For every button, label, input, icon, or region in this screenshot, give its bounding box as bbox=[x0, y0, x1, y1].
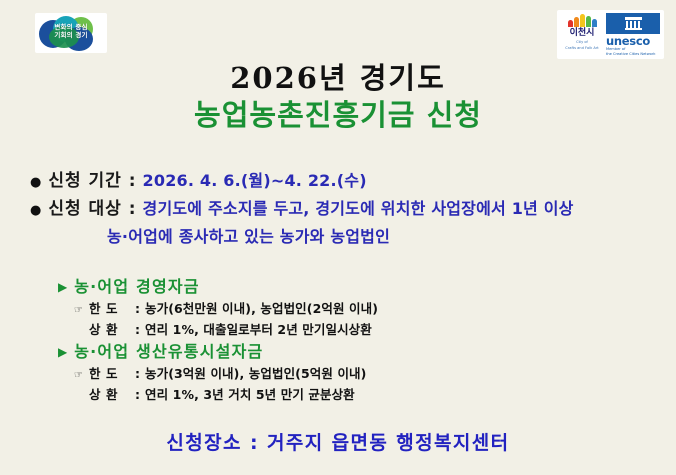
fund-section-management-title: 농·어업 경영자금 bbox=[74, 276, 200, 298]
info-value-eligibility: 경기도에 주소지를 두고, 경기도에 위치한 사업장에서 1년 이상 bbox=[143, 196, 574, 222]
fund-row-limit-key: 한 도 bbox=[89, 299, 135, 318]
fund-row-repayment-separator: : bbox=[135, 385, 140, 404]
fund-row-limit: ☞ 한 도 : 농가(3억원 이내), 농업법인(5억원 이내) bbox=[74, 364, 662, 385]
fund-row-limit-separator: : bbox=[135, 364, 140, 383]
pointing-hand-icon: ☞ bbox=[74, 301, 89, 320]
fund-row-repayment-value: 연리 1%, 3년 거치 5년 만기 균분상환 bbox=[145, 385, 355, 404]
icheon-city-name: 이천시 bbox=[561, 28, 603, 39]
info-label-application-period: 신청 기간 : bbox=[48, 168, 136, 194]
info-label-eligibility: 신청 대상 : bbox=[48, 196, 136, 222]
title-line-year-province: 2026년 경기도 bbox=[0, 60, 676, 96]
fund-row-limit: ☞ 한 도 : 농가(6천만원 이내), 농업법인(2억원 이내) bbox=[74, 299, 662, 320]
application-location-footer: 신청장소 : 거주지 읍면동 행정복지센터 bbox=[0, 428, 676, 455]
gyeonggi-logo-line1: 변화의 중심 bbox=[35, 23, 107, 31]
gyeonggi-logo-text: 변화의 중심 기회의 경기 bbox=[35, 23, 107, 39]
fund-sections: ▶ 농·어업 경영자금 ☞ 한 도 : 농가(6천만원 이내), 농업법인(2억… bbox=[58, 274, 662, 406]
triangle-bullet-icon: ▶ bbox=[58, 341, 67, 363]
fund-row-repayment-key: 상 환 bbox=[89, 320, 135, 339]
fund-row-limit-separator: : bbox=[135, 299, 140, 318]
info-value-application-period: 2026. 4. 6.(월)~4. 22.(수) bbox=[143, 168, 367, 194]
unesco-wordmark: unesco bbox=[606, 35, 660, 47]
info-bullet-list: ● 신청 기간 : 2026. 4. 6.(월)~4. 22.(수) ● 신청 … bbox=[30, 168, 662, 249]
unesco-temple-icon bbox=[606, 13, 660, 34]
page-title: 2026년 경기도 농업농촌진흥기금 신청 bbox=[0, 60, 676, 134]
triangle-bullet-icon: ▶ bbox=[58, 276, 67, 298]
right-logo-group: 이천시 Ctiy of Crafts and Folk Art unesco M… bbox=[557, 10, 664, 59]
title-line-fund-application: 농업농촌진흥기금 신청 bbox=[0, 96, 676, 134]
fund-section-production-distribution-rows: ☞ 한 도 : 농가(3억원 이내), 농업법인(5억원 이내) 상 환 : 연… bbox=[74, 364, 662, 404]
fund-row-repayment-separator: : bbox=[135, 320, 140, 339]
notice-poster: { "logos": { "gyeonggi": { "name": "gyeo… bbox=[0, 0, 676, 475]
unesco-sub-line2: the Creative Cities Network bbox=[606, 52, 660, 57]
gyeonggi-province-logo: 변화의 중심 기회의 경기 bbox=[35, 13, 107, 53]
fund-section-production-distribution-header: ▶ 농·어업 생산유통시설자금 bbox=[58, 341, 662, 363]
fund-row-repayment: 상 환 : 연리 1%, 대출일로부터 2년 만기일시상환 bbox=[74, 320, 662, 339]
unesco-logo: unesco Member of the Creative Cities Net… bbox=[606, 13, 660, 56]
fund-row-limit-key: 한 도 bbox=[89, 364, 135, 383]
fund-row-repayment-key: 상 환 bbox=[89, 385, 135, 404]
fund-section-production-distribution: ▶ 농·어업 생산유통시설자금 ☞ 한 도 : 농가(3억원 이내), 농업법인… bbox=[58, 341, 662, 404]
icheon-city-logo: 이천시 Ctiy of Crafts and Folk Art bbox=[561, 13, 603, 50]
info-row-application-period: ● 신청 기간 : 2026. 4. 6.(월)~4. 22.(수) bbox=[30, 168, 662, 196]
pointing-hand-icon: ☞ bbox=[74, 366, 89, 385]
fund-section-management-header: ▶ 농·어업 경영자금 bbox=[58, 276, 662, 298]
fund-row-repayment: 상 환 : 연리 1%, 3년 거치 5년 만기 균분상환 bbox=[74, 385, 662, 404]
fund-section-management: ▶ 농·어업 경영자금 ☞ 한 도 : 농가(6천만원 이내), 농업법인(2억… bbox=[58, 276, 662, 339]
info-row-eligibility: ● 신청 대상 : 경기도에 주소지를 두고, 경기도에 위치한 사업장에서 1… bbox=[30, 196, 662, 224]
fund-row-limit-value: 농가(3억원 이내), 농업법인(5억원 이내) bbox=[145, 364, 366, 383]
icheon-sub-line1: Ctiy of bbox=[561, 40, 603, 45]
bullet-dot-icon: ● bbox=[30, 198, 41, 224]
fund-section-production-distribution-title: 농·어업 생산유통시설자금 bbox=[74, 341, 263, 363]
fund-row-repayment-value: 연리 1%, 대출일로부터 2년 만기일시상환 bbox=[145, 320, 372, 339]
bullet-dot-icon: ● bbox=[30, 170, 41, 196]
info-value-eligibility-continued: 농·어업에 종사하고 있는 농가와 농업법인 bbox=[107, 224, 662, 249]
fund-section-management-rows: ☞ 한 도 : 농가(6천만원 이내), 농업법인(2억원 이내) 상 환 : … bbox=[74, 299, 662, 339]
icheon-sub-line2: Crafts and Folk Art bbox=[561, 46, 603, 51]
icheon-arch-icon bbox=[561, 13, 603, 27]
gyeonggi-logo-line2: 기회의 경기 bbox=[35, 31, 107, 39]
fund-row-limit-value: 농가(6천만원 이내), 농업법인(2억원 이내) bbox=[145, 299, 378, 318]
